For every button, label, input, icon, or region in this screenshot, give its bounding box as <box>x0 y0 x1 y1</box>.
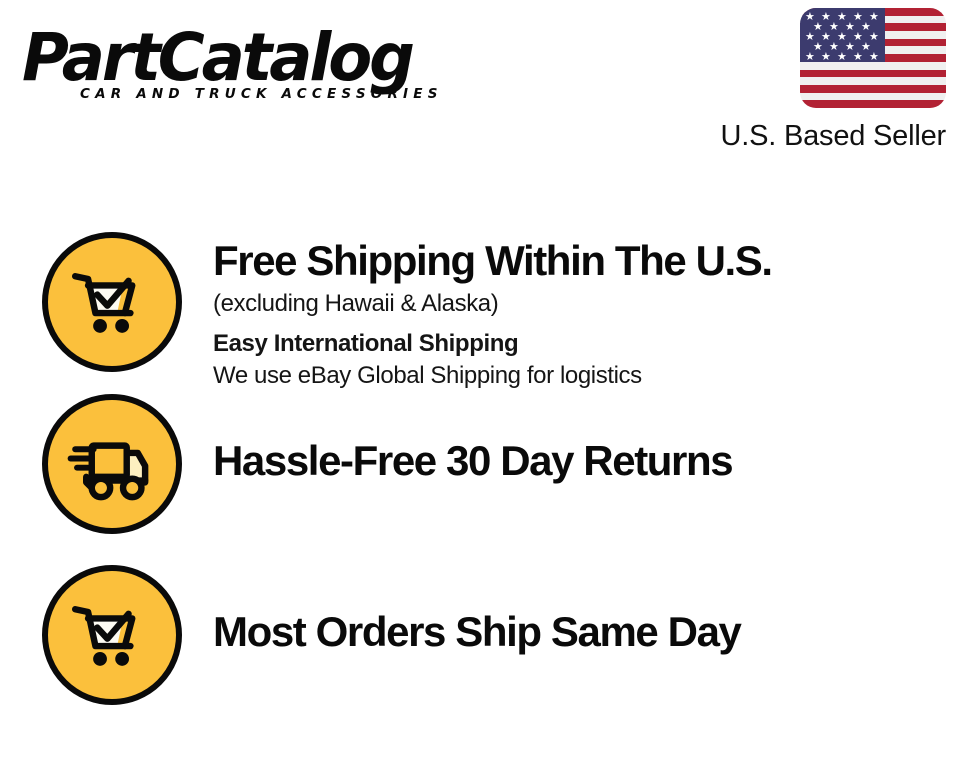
feature-text: Hassle-Free 30 Day Returns <box>213 394 960 486</box>
feature-row: Free Shipping Within The U.S. (excluding… <box>0 232 960 392</box>
feature-headline: Free Shipping Within The U.S. <box>213 236 960 286</box>
feature-headline: Hassle-Free 30 Day Returns <box>213 436 960 486</box>
us-based-seller-badge: ★ ★ ★ ★ ★ ★ ★ ★ ★ ★ ★ ★ ★ ★ ★ ★ ★ <box>686 8 946 153</box>
feature-subline: (excluding Hawaii & Alaska) <box>213 288 960 320</box>
feature-row: Hassle-Free 30 Day Returns <box>0 394 960 534</box>
shipping-info-banner: PartCatalog CAR AND TRUCK ACCESSORIES ★ <box>0 0 960 768</box>
feature-row: Most Orders Ship Same Day <box>0 565 960 705</box>
feature-text: Most Orders Ship Same Day <box>213 565 960 657</box>
shopping-cart-check-icon <box>42 232 182 372</box>
flag-stripe <box>800 70 946 78</box>
flag-stripe <box>800 85 946 93</box>
us-flag-icon: ★ ★ ★ ★ ★ ★ ★ ★ ★ ★ ★ ★ ★ ★ ★ ★ ★ <box>800 8 946 108</box>
brand-wordmark: PartCatalog <box>22 24 468 92</box>
us-based-seller-label: U.S. Based Seller <box>686 119 946 153</box>
flag-canton: ★ ★ ★ ★ ★ ★ ★ ★ ★ ★ ★ ★ ★ ★ ★ ★ ★ <box>800 8 885 62</box>
feature-headline: Most Orders Ship Same Day <box>213 607 960 657</box>
feature-text: Free Shipping Within The U.S. (excluding… <box>213 232 960 392</box>
flag-stripe <box>800 77 946 85</box>
feature-subline: We use eBay Global Shipping for logistic… <box>213 360 960 392</box>
feature-subline-bold: Easy International Shipping <box>213 328 960 360</box>
delivery-truck-icon <box>42 394 182 534</box>
brand-tagline: CAR AND TRUCK ACCESSORIES <box>80 86 443 102</box>
partcatalog-logo: PartCatalog CAR AND TRUCK ACCESSORIES <box>22 24 482 110</box>
flag-stripe <box>800 100 946 108</box>
flag-stripe <box>800 93 946 101</box>
shopping-cart-check-icon <box>42 565 182 705</box>
banner-header: PartCatalog CAR AND TRUCK ACCESSORIES ★ <box>0 0 960 170</box>
